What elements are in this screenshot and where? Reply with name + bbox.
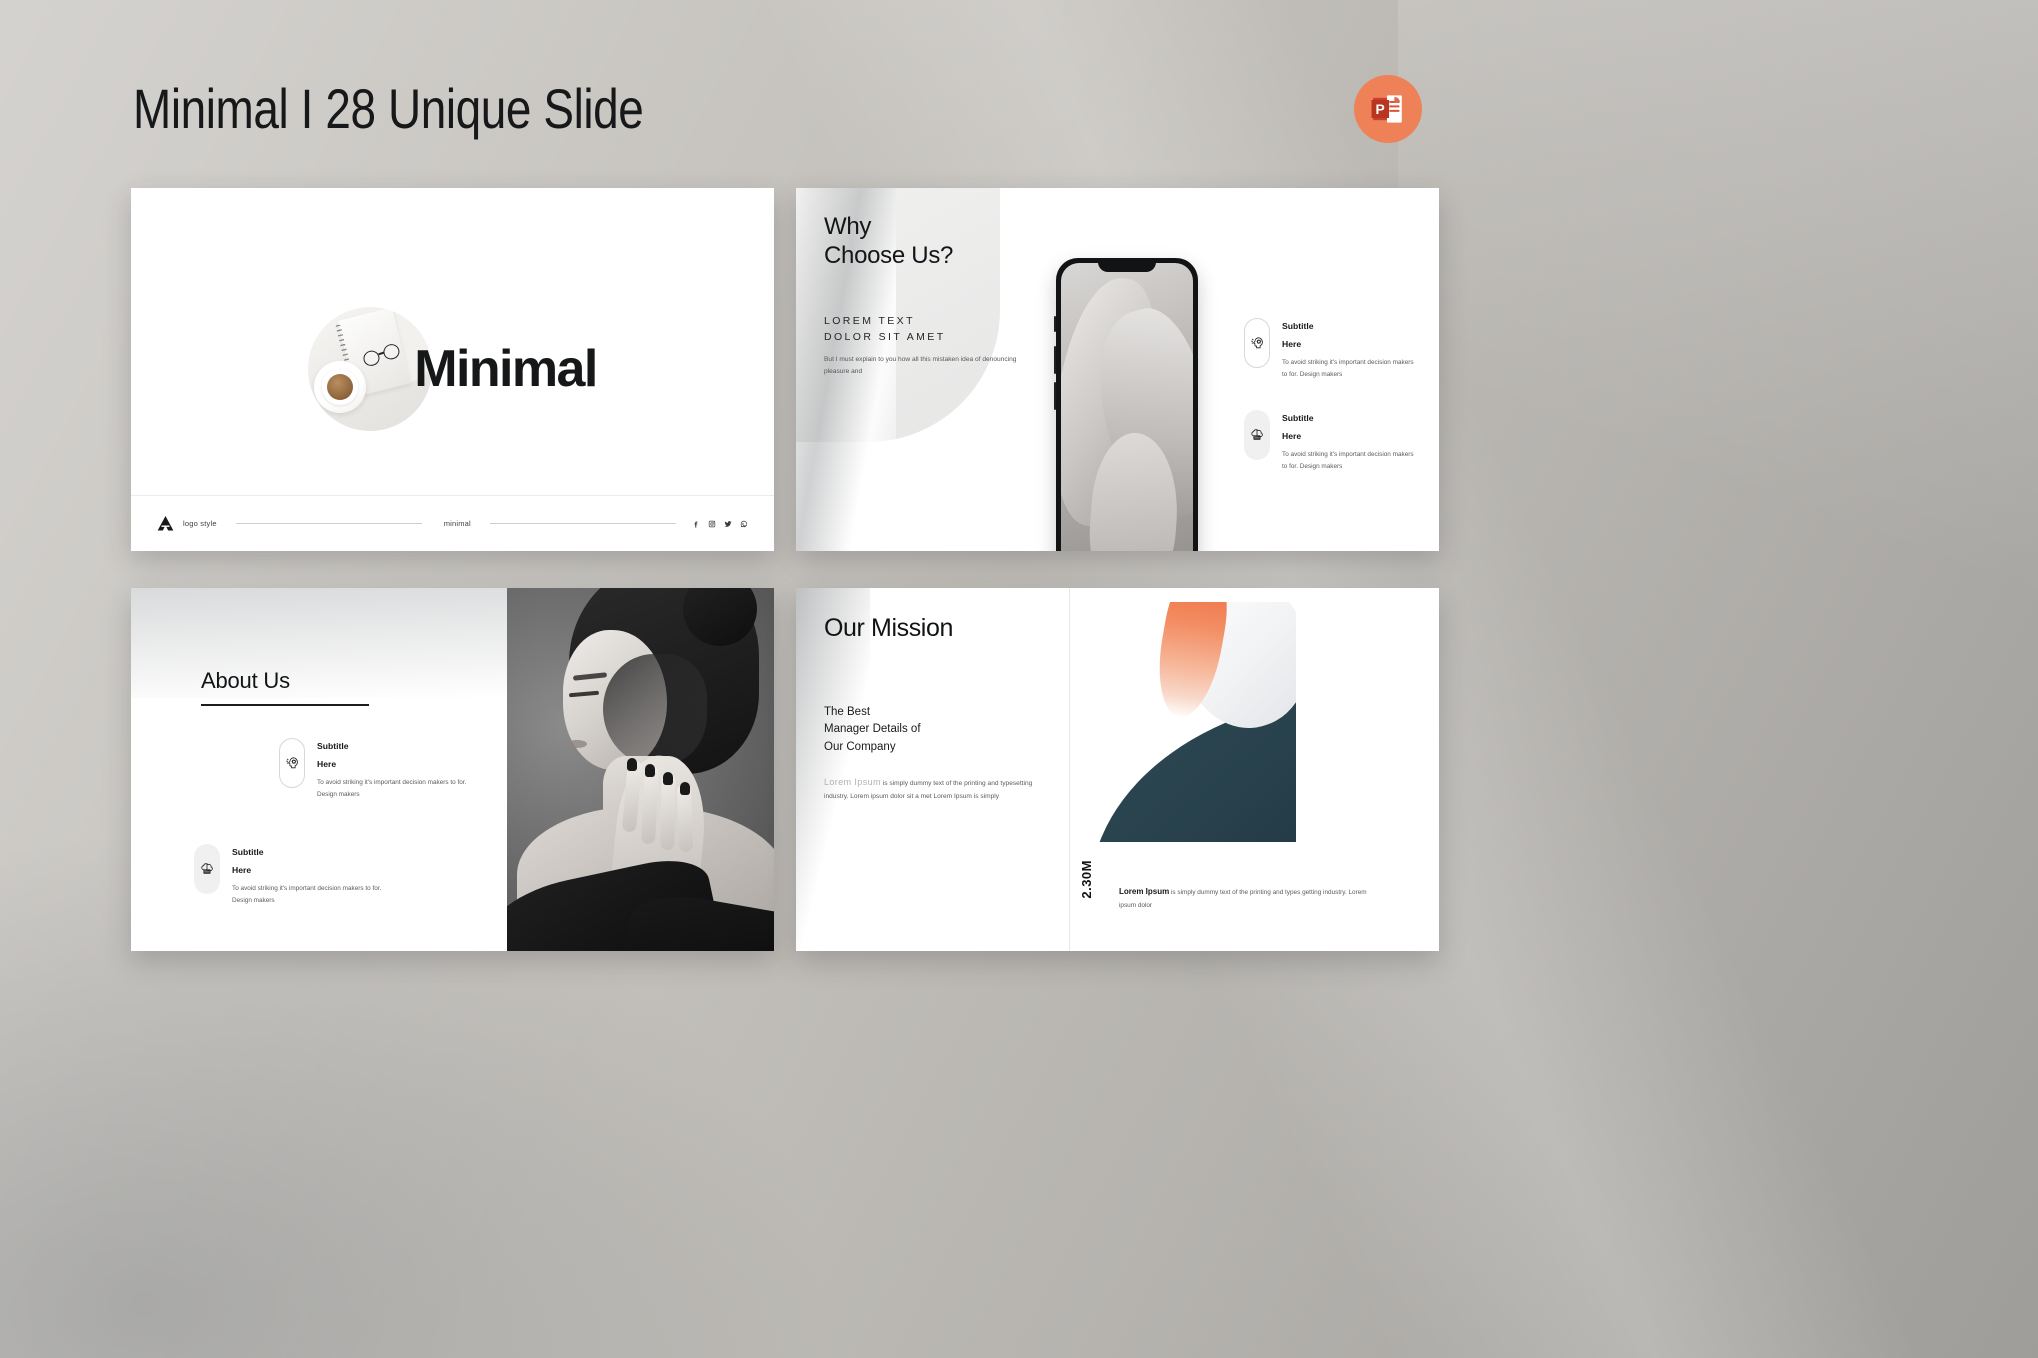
heading-line-1: Why [824,212,953,241]
feature-icon-pill [1244,410,1270,460]
svg-text:P: P [1375,101,1384,117]
feature-description: To avoid striking it's important decisio… [317,777,479,802]
phone-button-mute [1054,316,1056,332]
smartphone-mockup [1056,258,1198,551]
feature-item[interactable]: Subtitle Here To avoid striking it's imp… [279,736,479,802]
feature-text-block: Subtitle Here To avoid striking it's imp… [232,842,394,908]
slide-light-sheen [131,588,517,698]
phone-notch [1098,258,1156,272]
phone-screen-photo [1061,263,1193,551]
feature-title-line-2: Here [1282,339,1301,349]
page-title: Minimal I 28 Unique Slide [133,76,643,141]
about-us-slide[interactable]: About Us Subtitle Here To avoid striking… [131,588,774,951]
why-choose-us-heading: Why Choose Us? [824,212,953,271]
feature-title: Subtitle Here [232,847,264,875]
subheading-line-1: LOREM TEXT [824,314,946,330]
head-with-gears-icon [284,755,300,771]
abstract-art-image [1096,602,1296,842]
feature-text-block: Subtitle Here To avoid striking it's imp… [317,736,479,802]
panel-divider [1069,588,1070,951]
stat-label-bold: Lorem Ipsum [1119,887,1169,896]
about-us-title: About Us [201,668,290,694]
facebook-icon[interactable] [692,520,700,528]
our-mission-lead: The Best Manager Details of Our Company [824,704,921,756]
background-highlight-right [1398,0,2038,1358]
phone-button-volup [1054,346,1056,374]
our-mission-slide[interactable]: Our Mission The Best Manager Details of … [796,588,1439,951]
feature-icon-pill [1244,318,1270,368]
our-mission-body: Lorem Ipsum is simply dummy text of the … [824,774,1056,803]
feature-title: Subtitle Here [1282,321,1314,349]
feature-item[interactable]: Subtitle Here To avoid striking it's imp… [1244,316,1414,382]
lead-line-2: Manager Details of [824,721,921,738]
twitter-icon[interactable] [724,520,732,528]
feature-description: To avoid striking it's important decisio… [232,883,394,908]
feature-icon-pill [279,738,305,788]
feature-description: To avoid striking it's important decisio… [1282,449,1414,474]
stat-block: 2.30M Lorem Ipsum is simply dummy text o… [1079,860,1409,926]
chef-hat-icon [199,861,215,877]
feature-text-block: Subtitle Here To avoid striking it's imp… [1282,408,1414,474]
feature-title-line-1: Subtitle [232,847,264,857]
powerpoint-badge[interactable]: P [1354,75,1422,143]
head-with-gears-icon [1249,335,1265,351]
social-links[interactable] [692,520,748,528]
feature-title-line-1: Subtitle [1282,321,1314,331]
why-choose-us-subheading: LOREM TEXT DOLOR SIT AMET [824,314,946,346]
footer-rule-left [236,523,422,524]
whatsapp-icon[interactable] [740,520,748,528]
feature-icon-pill [194,844,220,894]
about-us-title-underline [201,704,369,706]
cover-footer: logo style minimal [131,495,774,551]
feature-title-line-1: Subtitle [317,741,349,751]
subheading-line-2: DOLOR SIT AMET [824,330,946,346]
feature-item[interactable]: Subtitle Here To avoid striking it's imp… [194,842,394,908]
feature-title: Subtitle Here [317,741,349,769]
chef-hat-icon [1249,427,1265,443]
why-choose-us-slide[interactable]: Why Choose Us? LOREM TEXT DOLOR SIT AMET… [796,188,1439,551]
lead-line-1: The Best [824,704,921,721]
footer-rule-right [490,523,676,524]
portrait-photo [507,588,774,951]
stat-value: 2.30M [1079,860,1094,899]
lead-line-3: Our Company [824,739,921,756]
stat-description: Lorem Ipsum is simply dummy text of the … [1119,884,1377,912]
triangle-logo-icon [157,516,174,531]
feature-title-line-1: Subtitle [1282,413,1314,423]
feature-title: Subtitle Here [1282,413,1314,441]
footer-mid-label: minimal [444,519,471,528]
feature-title-line-2: Here [232,865,251,875]
feature-text-block: Subtitle Here To avoid striking it's imp… [1282,316,1414,382]
feature-description: To avoid striking it's important decisio… [1282,357,1414,382]
cover-slide[interactable]: Minimal logo style minimal [131,188,774,551]
feature-title-line-2: Here [317,759,336,769]
why-choose-us-body: But I must explain to you how all this m… [824,354,1020,378]
heading-line-2: Choose Us? [824,241,953,270]
phone-button-voldown [1054,382,1056,410]
instagram-icon[interactable] [708,520,716,528]
our-mission-title: Our Mission [824,614,953,643]
cover-wordmark: Minimal [414,339,596,399]
cover-hero: Minimal [131,284,774,454]
body-lead-word: Lorem Ipsum [824,777,881,787]
powerpoint-icon: P [1371,92,1405,126]
feature-title-line-2: Here [1282,431,1301,441]
logo-style-label: logo style [183,519,217,528]
feature-item[interactable]: Subtitle Here To avoid striking it's imp… [1244,408,1414,474]
